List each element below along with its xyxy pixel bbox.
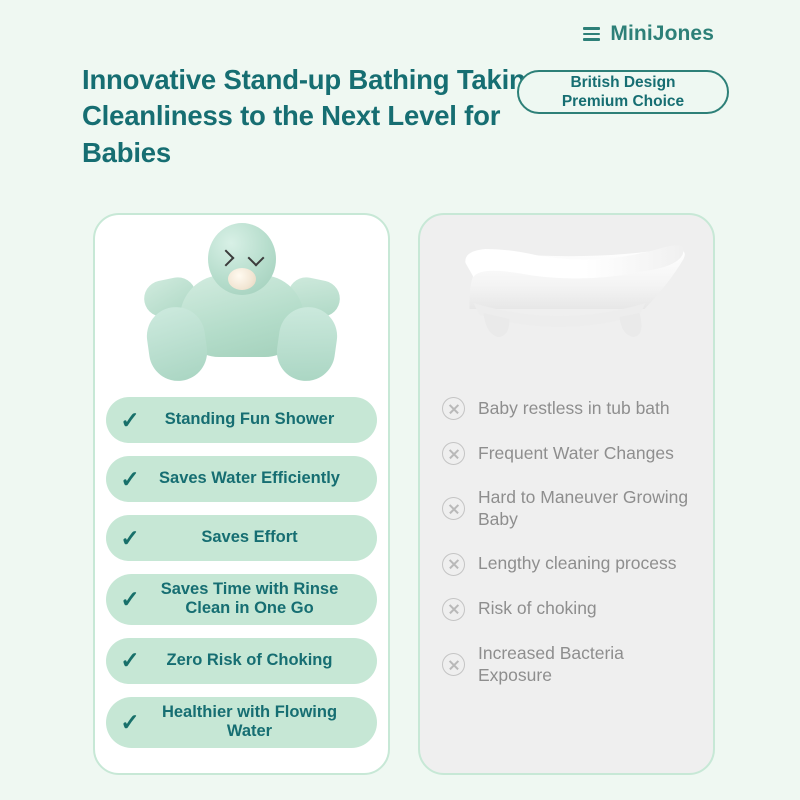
circle-x-icon (442, 653, 465, 676)
brand-bar: MiniJones (583, 22, 714, 46)
status-badge: British Design Premium Choice (517, 70, 729, 114)
list-item[interactable]: ✓ Zero Risk of Choking (106, 638, 377, 684)
circle-x-icon (442, 497, 465, 520)
list-item[interactable]: Frequent Water Changes (442, 442, 691, 465)
brand-name: MiniJones (610, 22, 714, 46)
pro-card-hero (95, 215, 388, 393)
list-item[interactable]: Increased Bacteria Exposure (442, 643, 691, 687)
list-item[interactable]: ✓ Healthier with Flowing Water (106, 697, 377, 748)
circle-x-icon (442, 442, 465, 465)
check-icon: ✓ (120, 527, 140, 550)
check-icon: ✓ (120, 649, 140, 672)
check-icon: ✓ (120, 409, 140, 432)
list-item[interactable]: Baby restless in tub bath (442, 397, 691, 420)
con-item-label: Frequent Water Changes (478, 443, 674, 465)
list-item[interactable]: Lengthy cleaning process (442, 553, 691, 576)
pro-item-label: Zero Risk of Choking (150, 651, 363, 670)
list-item[interactable]: ✓ Standing Fun Shower (106, 397, 377, 443)
con-card: Baby restless in tub bath Frequent Water… (418, 213, 715, 775)
con-item-label: Increased Bacteria Exposure (478, 643, 691, 687)
circle-x-icon (442, 397, 465, 420)
pro-item-label: Saves Time with Rinse Clean in One Go (150, 580, 363, 619)
pro-item-label: Standing Fun Shower (150, 410, 363, 429)
comparison-cards: ✓ Standing Fun Shower ✓ Saves Water Effi… (93, 213, 715, 775)
badge-line-2: Premium Choice (562, 92, 684, 111)
check-icon: ✓ (120, 468, 140, 491)
con-item-label: Hard to Maneuver Growing Baby (478, 487, 691, 531)
con-list: Baby restless in tub bath Frequent Water… (420, 397, 713, 687)
list-item[interactable]: ✓ Saves Effort (106, 515, 377, 561)
list-item[interactable]: ✓ Saves Time with Rinse Clean in One Go (106, 574, 377, 625)
check-icon: ✓ (120, 588, 140, 611)
badge-line-1: British Design (570, 73, 675, 92)
con-item-label: Baby restless in tub bath (478, 398, 670, 420)
baby-bath-seat-image (142, 223, 342, 388)
list-item[interactable]: Risk of choking (442, 598, 691, 621)
circle-x-icon (442, 598, 465, 621)
pro-list: ✓ Standing Fun Shower ✓ Saves Water Effi… (95, 397, 388, 748)
con-card-hero (420, 215, 713, 393)
page-title: Innovative Stand-up Bathing Taking Clean… (82, 62, 552, 171)
con-item-label: Lengthy cleaning process (478, 553, 676, 575)
bathtub-image (439, 233, 694, 353)
list-item[interactable]: Hard to Maneuver Growing Baby (442, 487, 691, 531)
pro-item-label: Healthier with Flowing Water (150, 703, 363, 742)
circle-x-icon (442, 553, 465, 576)
pro-card: ✓ Standing Fun Shower ✓ Saves Water Effi… (93, 213, 390, 775)
pro-item-label: Saves Water Efficiently (150, 469, 363, 488)
list-item[interactable]: ✓ Saves Water Efficiently (106, 456, 377, 502)
pro-item-label: Saves Effort (150, 528, 363, 547)
check-icon: ✓ (120, 711, 140, 734)
con-item-label: Risk of choking (478, 598, 597, 620)
hamburger-menu-icon[interactable] (583, 27, 600, 40)
